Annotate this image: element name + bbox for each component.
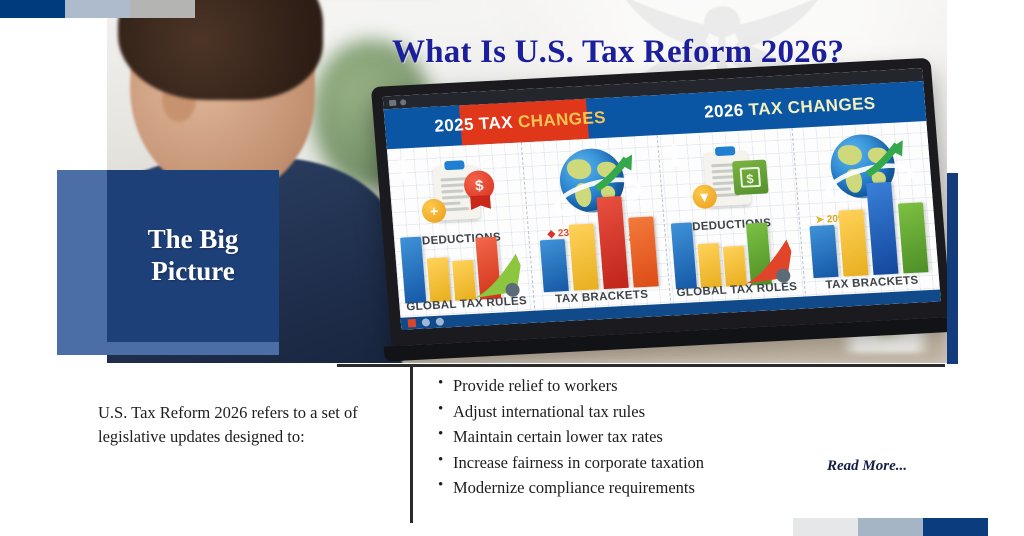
growth-swoosh-icon bbox=[470, 249, 526, 302]
deductions-icon-2026: ▼ $ bbox=[689, 146, 768, 212]
list-item: Modernize compliance requirements bbox=[438, 475, 704, 501]
growth-swoosh-icon bbox=[740, 235, 796, 288]
list-item: Adjust international tax rules bbox=[438, 399, 704, 425]
taskbar-dot-icon bbox=[422, 318, 431, 326]
read-more-link[interactable]: Read More... bbox=[827, 458, 907, 475]
callout-line-1: The Big bbox=[148, 224, 239, 256]
deco-bar-gray bbox=[130, 0, 195, 18]
column-2026-deductions: ▼ $ DEDUCTIONS bbox=[657, 128, 807, 315]
green-arrow-icon bbox=[863, 138, 908, 180]
deco-bar-navy bbox=[0, 0, 65, 18]
header-2025-part2: CHANGES bbox=[517, 108, 606, 132]
infographic-canvas: 2025 TAX CHANGES 2026 TAX CHANGES bbox=[0, 0, 1024, 536]
laptop-device: 2025 TAX CHANGES 2026 TAX CHANGES bbox=[371, 58, 947, 346]
column-2025-brackets: ◆ 23% 24% TAX BRACKETS bbox=[522, 135, 672, 322]
bar-chart-2025 bbox=[527, 194, 668, 293]
deductions-icon-2025: + $ bbox=[418, 160, 497, 226]
lead-paragraph: U.S. Tax Reform 2026 refers to a set of … bbox=[98, 401, 398, 449]
vertical-divider bbox=[410, 367, 413, 523]
right-accent-bar bbox=[947, 173, 958, 364]
list-item: Provide relief to workers bbox=[438, 373, 704, 399]
benefits-list: Provide relief to workers Adjust interna… bbox=[438, 373, 704, 501]
list-item: Maintain certain lower tax rates bbox=[438, 424, 704, 450]
laptop-screen: 2025 TAX CHANGES 2026 TAX CHANGES bbox=[383, 68, 941, 330]
deco-bar-lightgray bbox=[793, 518, 858, 536]
deco-bar-steel bbox=[858, 518, 923, 536]
toolbar-square-icon bbox=[389, 99, 396, 105]
header-2026-text: 2026 TAX CHANGES bbox=[703, 94, 876, 123]
page-title: What Is U.S. Tax Reform 2026? bbox=[392, 34, 844, 71]
arrow-updown-icon bbox=[396, 156, 412, 183]
deco-bar-navy bbox=[923, 518, 988, 536]
plus-glyph: + bbox=[429, 204, 438, 218]
horizontal-divider bbox=[337, 364, 945, 367]
arrow-updown-icon bbox=[666, 142, 682, 169]
taskbar-app-icon bbox=[408, 319, 417, 327]
dollar-glyph: $ bbox=[474, 177, 484, 194]
money-folder-icon: $ bbox=[732, 159, 769, 195]
taskbar-dot-icon bbox=[436, 317, 445, 325]
column-2025-deductions: + $ DEDUCTIONS bbox=[387, 142, 537, 329]
green-arrow-icon bbox=[592, 152, 637, 194]
presentation-slide: 2025 TAX CHANGES 2026 TAX CHANGES bbox=[384, 81, 941, 330]
callout-line-2: Picture bbox=[148, 256, 239, 288]
bar-chart-2026 bbox=[797, 180, 938, 279]
header-2026-part2: TAX CHANGES bbox=[748, 94, 876, 120]
dollar-glyph: $ bbox=[739, 167, 761, 188]
toolbar-dot-icon bbox=[400, 99, 406, 105]
laptop-lid: 2025 TAX CHANGES 2026 TAX CHANGES bbox=[371, 58, 947, 346]
header-2025-part1: 2025 TAX bbox=[434, 112, 519, 135]
callout-text: The Big Picture bbox=[107, 170, 279, 342]
bottom-decor-bars bbox=[793, 518, 988, 536]
deco-bar-steel bbox=[65, 0, 130, 18]
header-2026-part1: 2026 bbox=[703, 100, 749, 121]
top-decor-bars bbox=[0, 0, 195, 18]
list-item: Increase fairness in corporate taxation bbox=[438, 450, 704, 476]
column-2026-brackets: ➤ 20% 22% TAX BRACKETS bbox=[792, 121, 941, 308]
